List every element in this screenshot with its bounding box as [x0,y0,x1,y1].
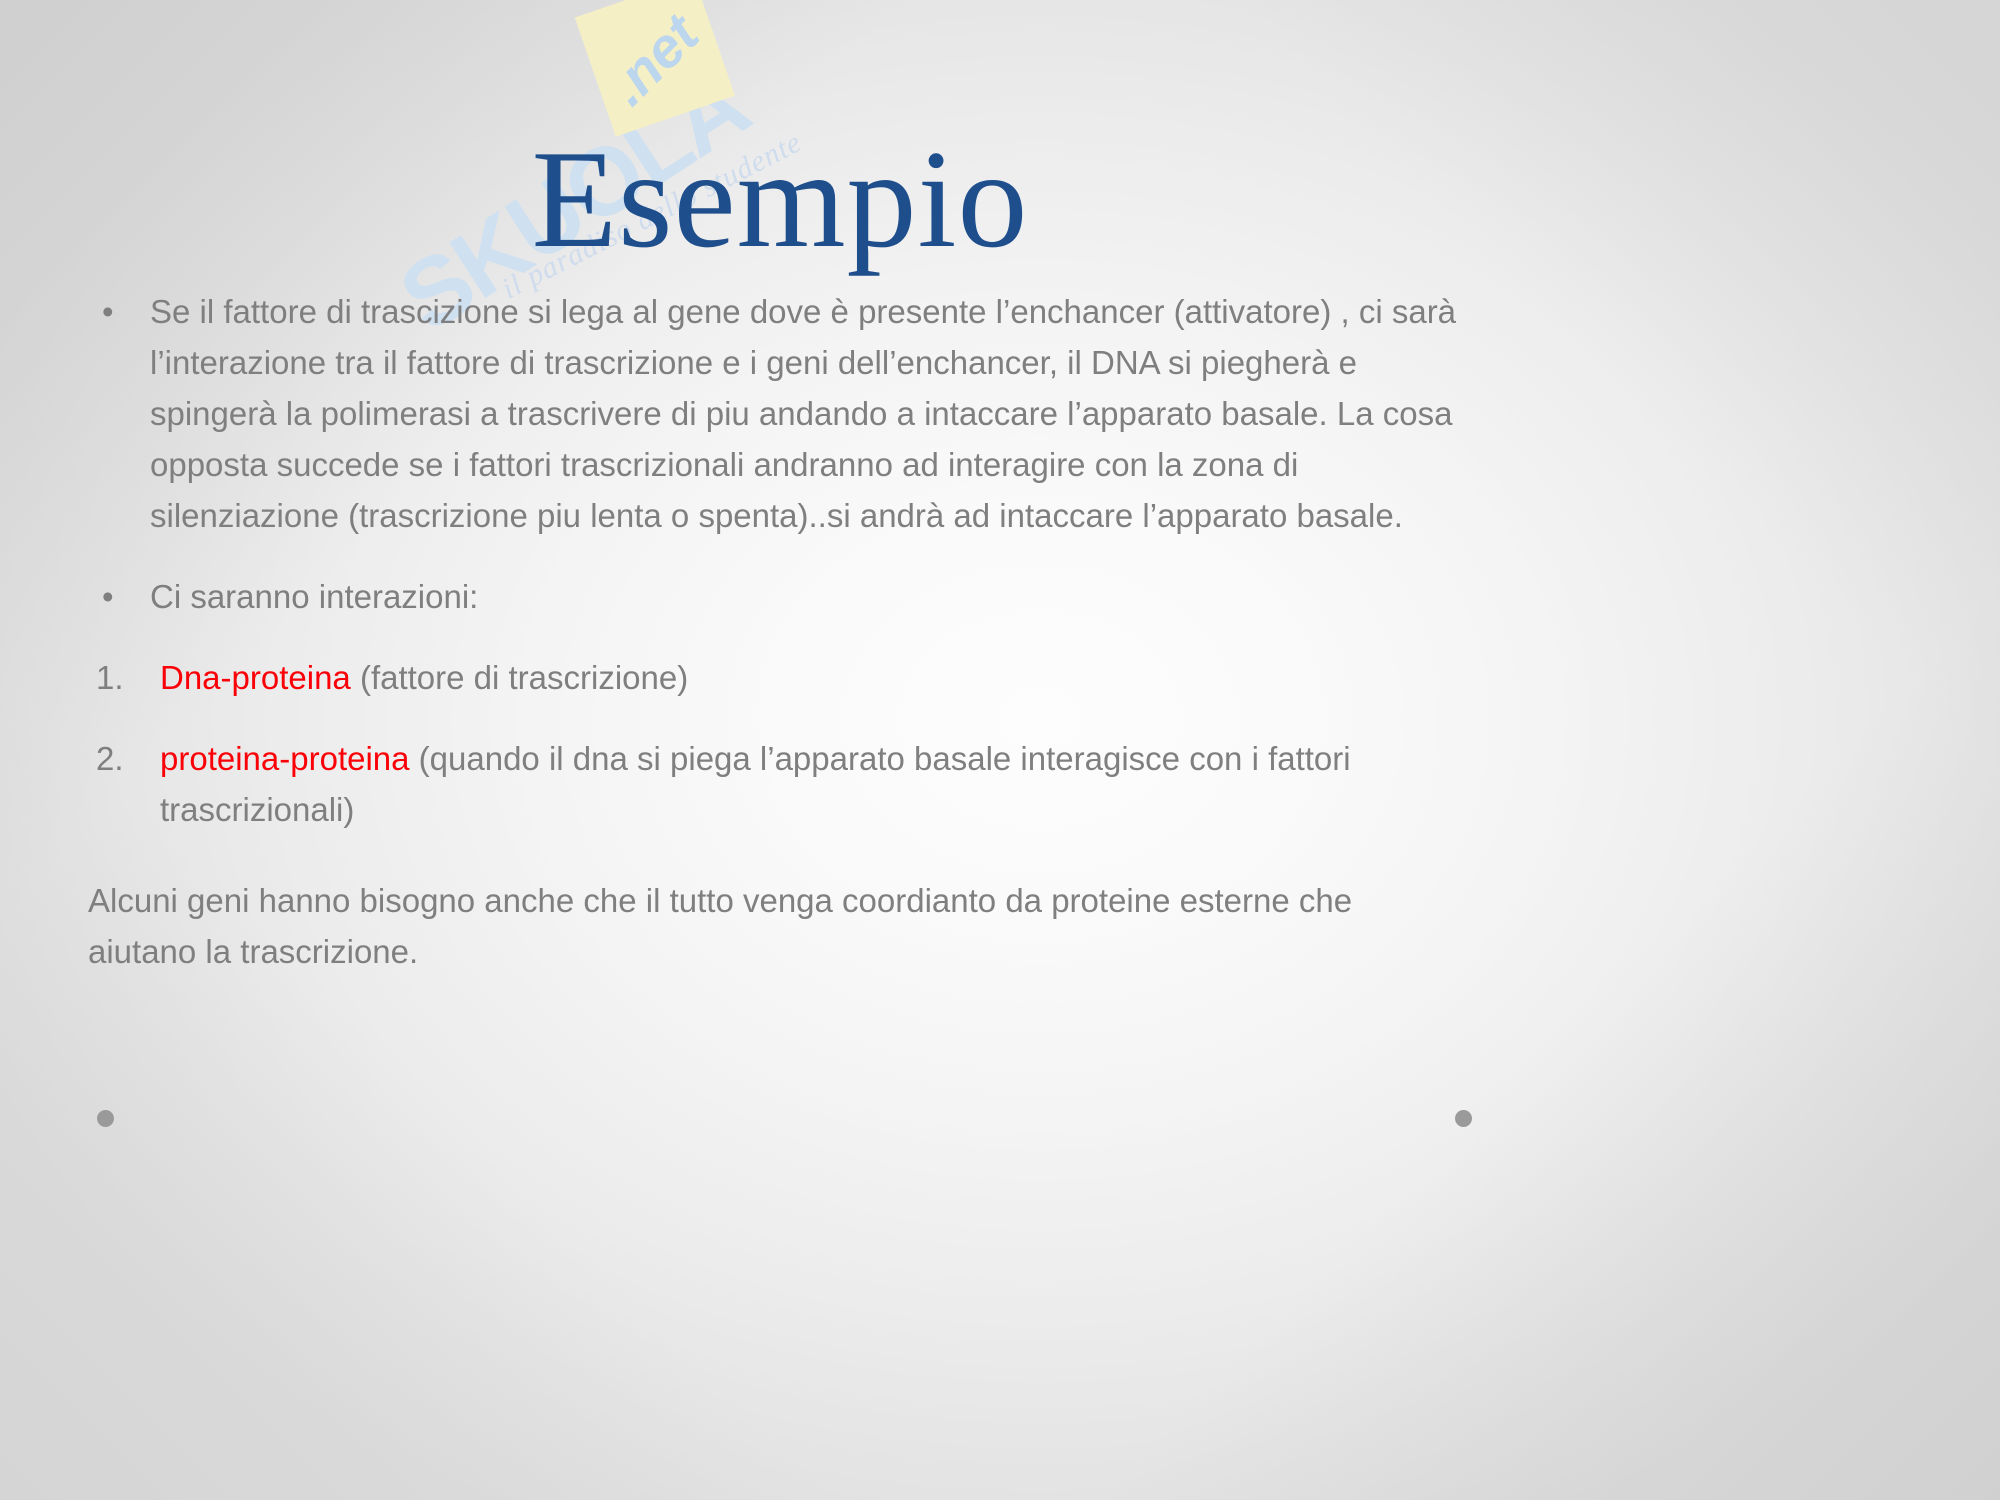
numbered-text: proteina-proteina (quando il dna si pieg… [160,733,1488,835]
spacer [88,638,1488,652]
spacer [88,557,1488,571]
numbered-item: 2. proteina-proteina (quando il dna si p… [88,733,1488,835]
bullet-item: • Ci saranno interazioni: [88,571,1488,622]
spacer [88,719,1488,733]
closing-paragraph: Alcuni geni hanno bisogno anche che il t… [88,875,1438,977]
numbered-item: 1. Dna-proteina (fattore di trascrizione… [88,652,1488,703]
slide-title: Esempio [0,130,1560,270]
slide-canvas: SKUOLA .net il paradiso dello studente E… [0,0,2000,1500]
bullet-marker-icon: • [88,286,150,337]
highlight-term: Dna-proteina [160,659,351,696]
slide-body: • Se il fattore di trascizione si lega a… [88,286,1488,977]
bullet-text: Se il fattore di trascizione si lega al … [150,286,1488,541]
footer-dot-right-icon [1455,1110,1472,1127]
numbered-text-rest: (fattore di trascrizione) [351,659,688,696]
list-number: 2. [88,733,160,784]
numbered-text: Dna-proteina (fattore di trascrizione) [160,652,1488,703]
highlight-term: proteina-proteina [160,740,410,777]
footer-dot-left-icon [97,1110,114,1127]
bullet-marker-icon: • [88,571,150,622]
watermark-domain-suffix: .net [595,1,711,117]
bullet-text: Ci saranno interazioni: [150,571,1488,622]
bullet-item: • Se il fattore di trascizione si lega a… [88,286,1488,541]
watermark-diamond-shape [575,0,735,137]
list-number: 1. [88,652,160,703]
